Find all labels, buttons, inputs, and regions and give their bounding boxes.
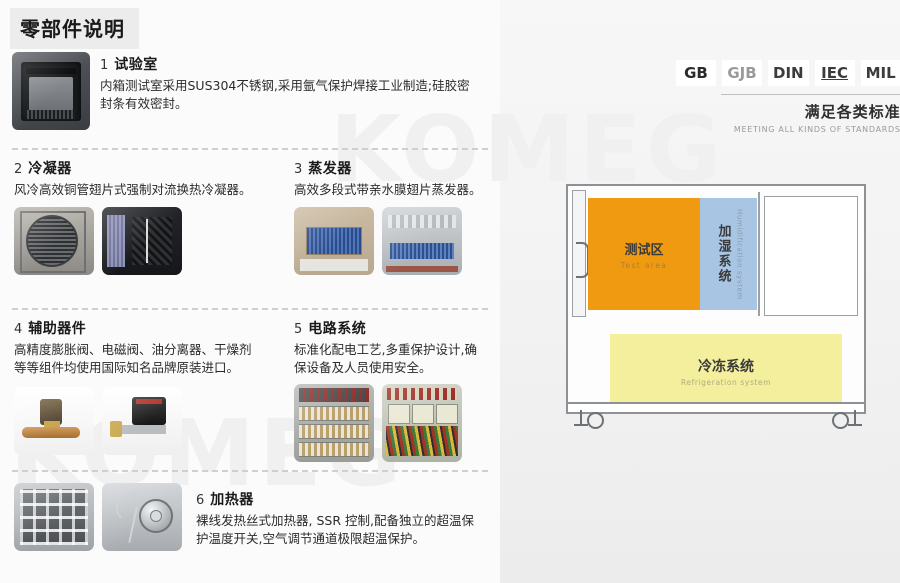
section-3-title: 蒸发器	[308, 158, 352, 178]
section-1-title: 试验室	[114, 54, 158, 74]
section-4: 4 辅助器件 高精度膨胀阀、电磁阀、油分离器、干燥剂等等组件均使用国际知名品牌原…	[14, 318, 274, 455]
section-6: 6 加热器 裸线发热丝式加热器, SSR 控制,配备独立的超温保护温度开关,空气…	[14, 483, 494, 551]
standard-badge-mil: MIL	[861, 60, 900, 86]
standards-badges: GB GJB DIN IEC MIL	[676, 60, 900, 86]
zone-refrig-label-en: Refrigeration system	[681, 378, 771, 387]
zone-humid-label-en: Humidification system	[736, 209, 744, 300]
evaporator-installed-photo	[382, 207, 462, 275]
section-1-number: 1	[100, 58, 108, 73]
section-5: 5 电路系统 标准化配电工艺,多重保护设计,确保设备及人员使用安全。	[294, 318, 534, 462]
section-4-title: 辅助器件	[28, 318, 86, 338]
cabinet-right-compartment	[764, 196, 858, 316]
product-spec-page: KOMEG KOMEG 零部件说明 1 试验室 内箱测试室采用SUS304不锈钢…	[0, 0, 900, 583]
zone-refrigeration: 冷冻系统 Refrigeration system	[610, 334, 842, 408]
caster-left-icon	[578, 410, 604, 428]
section-2: 2 冷凝器 风冷高效铜管翅片式强制对流换热冷凝器。	[14, 158, 264, 275]
section-1-desc: 内箱测试室采用SUS304不锈钢,采用氩气保护焊接工业制造;硅胶密封条有效密封。	[100, 77, 480, 113]
section-5-title: 电路系统	[308, 318, 366, 338]
test-chamber-photo	[12, 52, 90, 130]
zone-test-label-en: Test area	[621, 261, 667, 270]
standard-badge-din: DIN	[768, 60, 809, 86]
zone-humid-label-cn: 加湿系统	[714, 224, 733, 284]
section-2-desc: 风冷高效铜管翅片式强制对流换热冷凝器。	[14, 181, 264, 199]
section-6-title: 加热器	[210, 489, 254, 509]
standards-caption-cn: 满足各类标准	[676, 101, 900, 122]
page-title: 零部件说明	[10, 8, 139, 49]
section-3: 3 蒸发器 高效多段式带亲水膜翅片蒸发器。	[294, 158, 544, 275]
section-5-desc: 标准化配电工艺,多重保护设计,确保设备及人员使用安全。	[294, 341, 489, 377]
section-4-number: 4	[14, 322, 22, 337]
divider-2	[12, 308, 488, 310]
thermostat-probe-photo	[102, 483, 182, 551]
standard-badge-gjb: GJB	[722, 60, 762, 86]
section-2-number: 2	[14, 162, 22, 177]
expansion-valve-photo	[14, 387, 94, 455]
cabinet-divider	[758, 192, 760, 316]
standard-badge-iec: IEC	[815, 60, 855, 86]
zone-test-label-cn: 测试区	[624, 239, 663, 258]
standards-rule	[721, 94, 900, 95]
heater-element-photo	[14, 483, 94, 551]
condenser-unit-photo	[102, 207, 182, 275]
section-2-title: 冷凝器	[28, 158, 72, 178]
wiring-panel-photo	[382, 384, 462, 462]
page-title-text: 零部件说明	[20, 17, 125, 41]
section-3-desc: 高效多段式带亲水膜翅片蒸发器。	[294, 181, 524, 199]
caster-right-icon	[832, 410, 858, 428]
section-6-number: 6	[196, 493, 204, 508]
section-4-desc: 高精度膨胀阀、电磁阀、油分离器、干燥剂等等组件均使用国际知名品牌原装进口。	[14, 341, 259, 377]
terminal-block-photo	[294, 384, 374, 462]
cabinet-outline: 测试区 Test area 加湿系统 Humidification system…	[566, 184, 866, 406]
section-1: 1 试验室 内箱测试室采用SUS304不锈钢,采用氩气保护焊接工业制造;硅胶密封…	[12, 52, 492, 130]
zone-test-area: 测试区 Test area	[588, 198, 702, 310]
section-5-number: 5	[294, 322, 302, 337]
section-3-number: 3	[294, 162, 302, 177]
evaporator-coil-photo	[294, 207, 374, 275]
divider-1	[12, 148, 488, 150]
condenser-coil-photo	[14, 207, 94, 275]
solenoid-valve-photo	[102, 387, 182, 455]
standard-badge-gb: GB	[676, 60, 716, 86]
cabinet-base	[566, 402, 866, 414]
section-6-desc: 裸线发热丝式加热器, SSR 控制,配备独立的超温保护温度开关,空气调节通道极限…	[196, 512, 486, 548]
zone-humidification: 加湿系统 Humidification system	[700, 198, 757, 310]
zone-refrig-label-cn: 冷冻系统	[698, 356, 754, 376]
divider-3	[12, 470, 488, 472]
standards-caption-en: MEETING ALL KINDS OF STANDARDS	[676, 125, 900, 134]
chamber-cutaway-diagram: 测试区 Test area 加湿系统 Humidification system…	[560, 170, 880, 435]
standards-block: GB GJB DIN IEC MIL 满足各类标准 MEETING ALL KI…	[676, 60, 900, 134]
